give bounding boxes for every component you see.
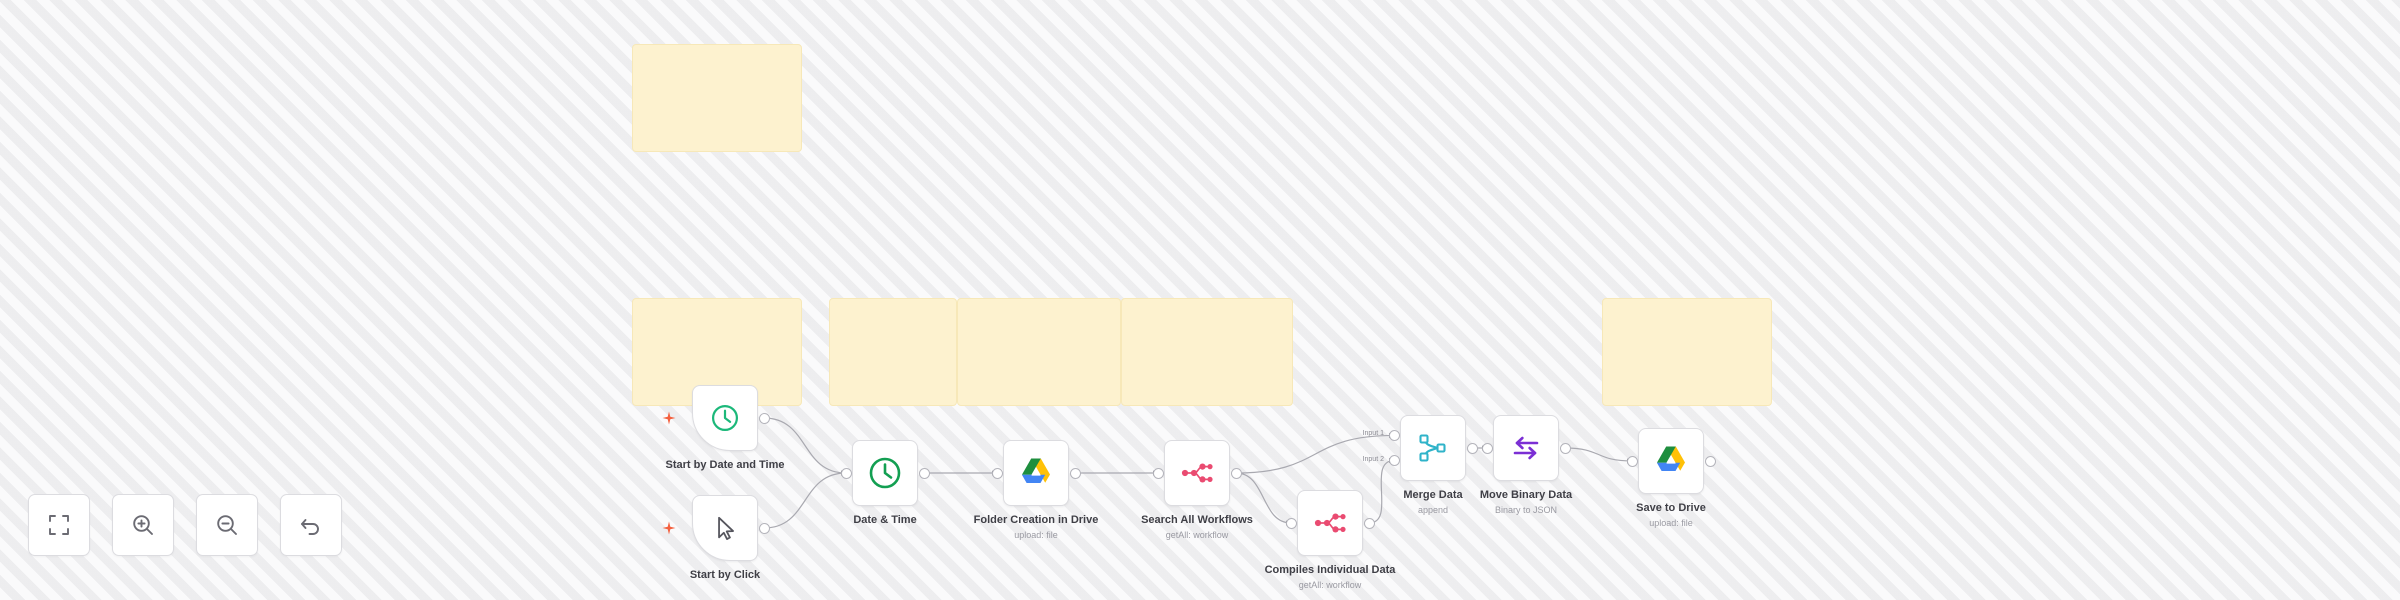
node-output-port[interactable] <box>1560 443 1571 454</box>
zoom-in-icon <box>130 512 156 538</box>
node-output-port[interactable] <box>759 413 770 424</box>
node-output-port[interactable] <box>1467 443 1478 454</box>
node-output-port[interactable] <box>919 468 930 479</box>
clock-icon <box>865 453 905 493</box>
node-merge-data[interactable] <box>1400 415 1466 481</box>
fit-to-screen-icon <box>46 512 72 538</box>
node-title: Search All Workflows <box>1077 513 1317 527</box>
node-subtitle: Binary to JSON <box>1406 504 1646 516</box>
sticky-note[interactable] <box>957 298 1121 406</box>
node-output-port[interactable] <box>1231 468 1242 479</box>
node-output-port[interactable] <box>759 523 770 534</box>
connection-edge[interactable] <box>764 473 846 528</box>
node-subtitle: getAll: workflow <box>1210 579 1450 591</box>
node-input-port-1[interactable] <box>1389 430 1400 441</box>
sticky-note[interactable] <box>632 44 802 152</box>
connection-edge[interactable] <box>764 418 846 473</box>
node-search-all-workflows[interactable] <box>1164 440 1230 506</box>
node-subtitle: upload: file <box>1551 517 1791 529</box>
swap-arrows-icon <box>1506 428 1546 468</box>
connection-edge[interactable] <box>1565 448 1632 461</box>
canvas-zoom-toolbar <box>28 494 342 556</box>
node-input-port[interactable] <box>1627 456 1638 467</box>
node-input-port-2[interactable] <box>1389 455 1400 466</box>
zoom-out-icon <box>214 512 240 538</box>
node-input-port[interactable] <box>1286 518 1297 529</box>
node-title: Start by Click <box>605 568 845 582</box>
workflow-canvas[interactable]: Start by Date and TimeStart by Click Dat… <box>0 0 2400 600</box>
node-caption: Date & Time <box>765 513 1005 527</box>
node-output-port[interactable] <box>1705 456 1716 467</box>
node-folder-creation-in-drive[interactable] <box>1003 440 1069 506</box>
node-compiles-individual-data[interactable] <box>1297 490 1363 556</box>
node-caption: Start by Click <box>605 568 845 582</box>
trigger-sparkle-icon <box>662 521 676 535</box>
sticky-note[interactable] <box>829 298 957 406</box>
node-title: Start by Date and Time <box>605 458 845 472</box>
connection-edge[interactable] <box>1236 435 1394 473</box>
node-caption: Folder Creation in Driveupload: file <box>916 513 1156 541</box>
node-subtitle: getAll: workflow <box>1077 529 1317 541</box>
cursor-pointer-icon <box>708 511 742 545</box>
node-title: Compiles Individual Data <box>1210 563 1450 577</box>
merge-icon <box>1413 428 1453 468</box>
node-input-port[interactable] <box>992 468 1003 479</box>
node-input-port[interactable] <box>1482 443 1493 454</box>
google-drive-icon <box>1016 453 1056 493</box>
node-move-binary-data[interactable] <box>1493 415 1559 481</box>
zoom-in-button[interactable] <box>112 494 174 556</box>
node-input-port[interactable] <box>841 468 852 479</box>
sticky-note[interactable] <box>1602 298 1772 406</box>
node-caption: Save to Driveupload: file <box>1551 501 1791 529</box>
google-drive-icon <box>1651 441 1691 481</box>
node-caption: Move Binary DataBinary to JSON <box>1406 488 1646 516</box>
node-date-and-time[interactable] <box>852 440 918 506</box>
merge-input-label: Input 2 <box>1342 456 1384 463</box>
node-title: Folder Creation in Drive <box>916 513 1156 527</box>
node-caption: Search All WorkflowsgetAll: workflow <box>1077 513 1317 541</box>
undo-arrow-icon <box>298 512 324 538</box>
connection-edge[interactable] <box>1236 473 1291 523</box>
node-start-by-click[interactable] <box>692 495 758 561</box>
node-subtitle: upload: file <box>916 529 1156 541</box>
node-title: Save to Drive <box>1551 501 1791 515</box>
n8n-icon <box>1310 503 1350 543</box>
node-output-port[interactable] <box>1364 518 1375 529</box>
merge-input-label: Input 1 <box>1342 430 1384 437</box>
n8n-icon <box>1177 453 1217 493</box>
node-caption: Start by Date and Time <box>605 458 845 472</box>
connection-edge[interactable] <box>1369 461 1394 523</box>
zoom-to-fit-button[interactable] <box>28 494 90 556</box>
node-save-to-drive[interactable] <box>1638 428 1704 494</box>
sticky-note[interactable] <box>1121 298 1293 406</box>
zoom-out-button[interactable] <box>196 494 258 556</box>
trigger-sparkle-icon <box>662 411 676 425</box>
node-title: Move Binary Data <box>1406 488 1646 502</box>
reset-zoom-button[interactable] <box>280 494 342 556</box>
node-input-port[interactable] <box>1153 468 1164 479</box>
node-title: Date & Time <box>765 513 1005 527</box>
node-output-port[interactable] <box>1070 468 1081 479</box>
clock-icon <box>708 401 742 435</box>
node-start-by-date-and-time[interactable] <box>692 385 758 451</box>
node-caption: Compiles Individual DatagetAll: workflow <box>1210 563 1450 591</box>
